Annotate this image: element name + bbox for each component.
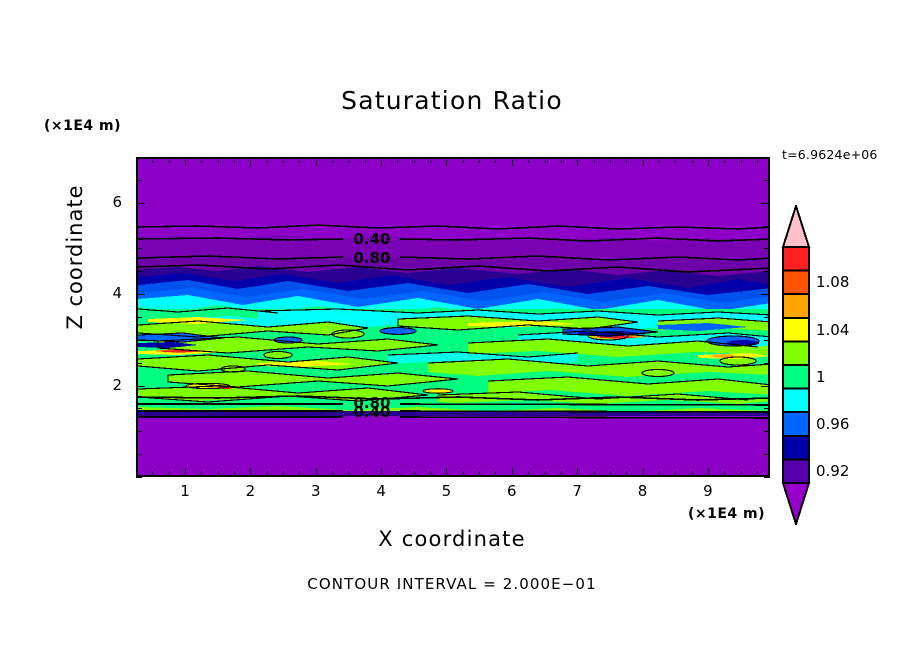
x-axis-title: X coordinate [0,527,904,551]
x-ticklabel: 5 [431,482,461,500]
y-axis-unit-label: (×1E4 m) [44,118,121,134]
x-tick [659,157,660,163]
x-tick [479,471,480,477]
x-tick [430,157,431,163]
x-tick [381,157,382,166]
x-tick [724,157,725,163]
x-tick [675,157,676,163]
x-tick [316,468,317,477]
x-tick [741,471,742,477]
x-ticklabel: 7 [562,482,592,500]
colorbar-ticklabel: 1.08 [816,273,849,291]
x-tick [463,471,464,477]
colorbar-band [783,365,809,389]
y-tick [136,454,142,455]
y-tick [136,408,142,409]
colorbar-cap-high [783,206,809,247]
x-tick [381,468,382,477]
x-tick [218,471,219,477]
y-tick [136,203,145,204]
x-tick [250,468,251,477]
colorbar-band [783,271,809,295]
x-tick [283,157,284,163]
y-tick [136,248,142,249]
x-tick [299,471,300,477]
contour-label: 0.40 [353,403,390,421]
x-tick [234,471,235,477]
colorbar-ticklabel: 1 [816,368,826,386]
y-tick [136,363,142,364]
y-tick [136,431,142,432]
x-tick [577,468,578,477]
colorbar-ticklabel: 1.04 [816,321,849,339]
y-ticklabel: 2 [96,376,122,394]
x-tick [577,157,578,166]
x-tick [218,157,219,163]
colorbar-band [783,389,809,413]
x-ticklabel: 9 [693,482,723,500]
y-tick [761,294,770,295]
y-tick [764,454,770,455]
x-tick [610,157,611,163]
x-tick [201,157,202,163]
x-tick [561,157,562,163]
y-tick [764,157,770,158]
x-tick [741,157,742,163]
x-tick [708,468,709,477]
y-tick [761,386,770,387]
x-tick [267,157,268,163]
y-ticklabel: 4 [96,284,122,302]
x-tick [234,157,235,163]
contour-label: 0.40 [353,230,390,248]
x-tick [643,468,644,477]
colorbar [781,205,811,525]
x-ticklabel: 6 [497,482,527,500]
y-tick [764,340,770,341]
x-tick [495,157,496,163]
x-tick [692,157,693,163]
x-tick [169,157,170,163]
x-tick [201,471,202,477]
contour-plot-area: 0.40 0.80 0.80 0.40 [136,157,770,477]
x-tick [724,471,725,477]
colorbar-swatches [781,205,811,525]
x-tick [332,157,333,163]
y-ticklabel: 6 [96,193,122,211]
x-tick [757,471,758,477]
x-tick [348,157,349,163]
colorbar-cap-low [783,483,809,524]
x-tick [430,471,431,477]
x-tick [185,468,186,477]
x-tick [316,157,317,166]
x-tick [152,157,153,163]
x-tick [397,157,398,163]
y-axis-title: Z coordinate [63,157,87,357]
x-tick [545,157,546,163]
contour-interval-caption: CONTOUR INTERVAL = 2.000E−01 [0,575,904,593]
x-tick [267,471,268,477]
y-tick [764,271,770,272]
y-tick [136,317,142,318]
y-tick [764,317,770,318]
colorbar-band [783,341,809,365]
y-tick [764,226,770,227]
x-tick [626,471,627,477]
x-tick [397,471,398,477]
x-tick [446,468,447,477]
x-tick [512,157,513,166]
x-ticklabel: 2 [235,482,265,500]
x-tick [708,157,709,166]
x-tick [643,157,644,166]
y-tick [761,203,770,204]
x-tick [250,157,251,166]
x-ticklabel: 3 [301,482,331,500]
x-tick [169,471,170,477]
y-tick [136,157,142,158]
x-tick [659,471,660,477]
y-tick [136,180,142,181]
x-tick [152,471,153,477]
x-tick [185,157,186,166]
colorbar-ticklabel: 0.96 [816,415,849,433]
y-tick [764,248,770,249]
x-tick [512,468,513,477]
x-tick [692,471,693,477]
y-tick [136,294,145,295]
x-tick [414,471,415,477]
x-tick [463,157,464,163]
x-tick [414,157,415,163]
x-axis-unit-label: (×1E4 m) [688,506,765,522]
x-tick [365,157,366,163]
colorbar-band [783,459,809,483]
x-tick [283,471,284,477]
x-tick [561,471,562,477]
x-tick [348,471,349,477]
time-annotation: t=6.9624e+06 [782,147,878,162]
x-tick [365,471,366,477]
x-tick [594,157,595,163]
y-tick [764,477,770,478]
x-ticklabel: 8 [628,482,658,500]
x-tick [528,471,529,477]
x-tick [626,157,627,163]
colorbar-band [783,436,809,460]
colorbar-band [783,247,809,271]
x-tick [545,471,546,477]
x-tick [594,471,595,477]
y-tick [764,363,770,364]
x-tick [495,471,496,477]
x-tick [610,471,611,477]
x-ticklabel: 4 [366,482,396,500]
page-title: Saturation Ratio [0,86,904,115]
x-tick [446,157,447,166]
colorbar-band [783,318,809,342]
y-tick [136,271,142,272]
y-tick [764,431,770,432]
y-tick [136,477,142,478]
x-tick [479,157,480,163]
contour-label: 0.80 [353,249,390,267]
x-tick [675,471,676,477]
y-tick [136,340,142,341]
colorbar-ticklabel: 0.92 [816,462,849,480]
y-tick [136,386,145,387]
colorbar-band [783,412,809,436]
x-ticklabel: 1 [170,482,200,500]
y-tick [764,180,770,181]
y-tick [136,226,142,227]
y-tick [764,408,770,409]
x-tick [299,157,300,163]
x-tick [757,157,758,163]
x-tick [528,157,529,163]
colorbar-band [783,294,809,318]
x-tick [332,471,333,477]
contour-field: 0.40 0.80 0.80 0.40 [138,159,770,477]
